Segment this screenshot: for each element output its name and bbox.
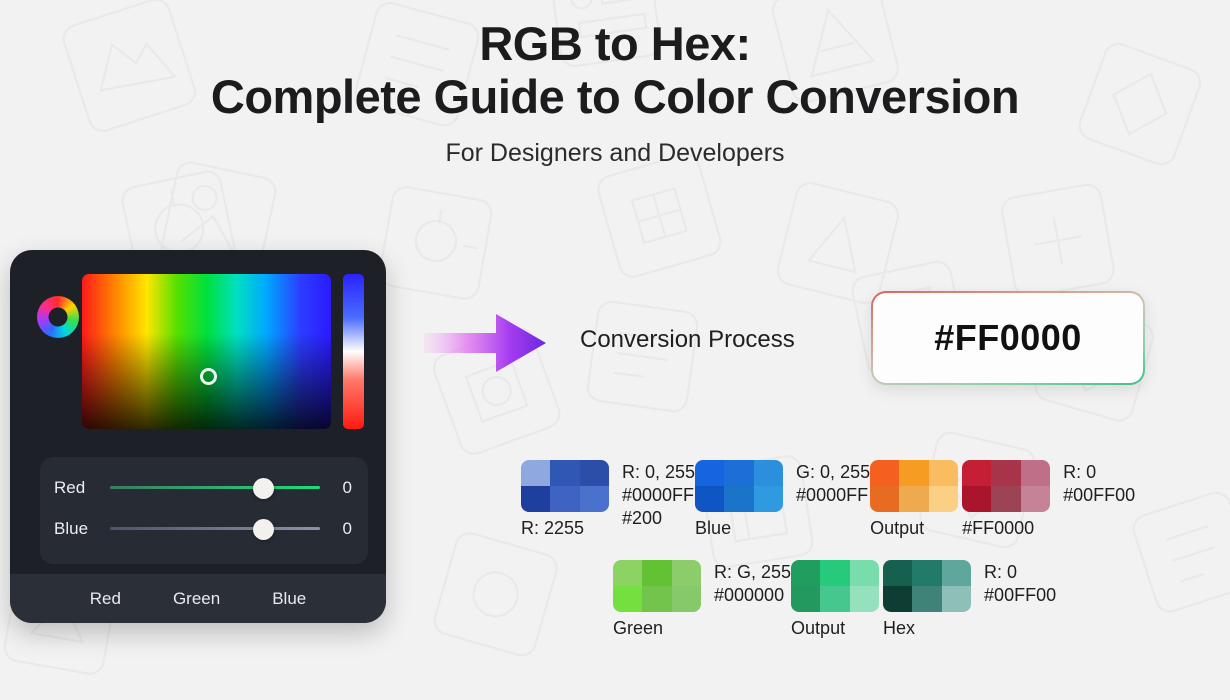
swatch-tile bbox=[899, 460, 928, 486]
swatch-meta2-1-4: #00FF00 bbox=[1063, 484, 1135, 507]
right-arrow-icon bbox=[424, 312, 546, 374]
swatch-tile bbox=[929, 486, 958, 512]
saturation-gradient-field[interactable] bbox=[82, 274, 331, 429]
slider-track-red[interactable] bbox=[110, 478, 320, 498]
swatch-tile bbox=[942, 586, 971, 612]
swatch-meta-1-1: R: 0, 255 #0000FF #200 bbox=[622, 460, 695, 530]
swatch-meta2-1-1: #0000FF bbox=[622, 484, 695, 507]
swatch-meta2-2-2: #000000 bbox=[714, 584, 791, 607]
swatch-tile bbox=[695, 460, 724, 486]
slider-value-red: 0 bbox=[326, 478, 352, 498]
hex-value-text: #FF0000 bbox=[934, 317, 1082, 359]
swatch-tile bbox=[912, 586, 941, 612]
swatch-tile bbox=[1021, 460, 1050, 486]
swatch-tile bbox=[870, 486, 899, 512]
hex-result-badge[interactable]: #FF0000 bbox=[871, 291, 1145, 385]
swatch-tile bbox=[724, 460, 753, 486]
red-swatch[interactable] bbox=[962, 460, 1050, 512]
swatch-meta2-2-4: #00FF00 bbox=[984, 584, 1056, 607]
channel-tabbar: Red Green Blue bbox=[10, 574, 386, 623]
swatch-tile bbox=[521, 486, 550, 512]
swatch-tile bbox=[883, 586, 912, 612]
swatch-tile bbox=[929, 460, 958, 486]
swatch-tile bbox=[642, 560, 671, 586]
swatch-tile bbox=[850, 586, 879, 612]
swatch-tile bbox=[991, 486, 1020, 512]
tab-blue[interactable]: Blue bbox=[272, 589, 306, 609]
swatch-cell-2-3[interactable]: Output bbox=[791, 560, 883, 660]
swatch-tile bbox=[550, 460, 579, 486]
tab-green[interactable]: Green bbox=[173, 589, 220, 609]
hue-slider-strip[interactable] bbox=[343, 274, 364, 429]
swatch-tile bbox=[695, 486, 724, 512]
swatch-meta1-1-2: G: 0, 255 bbox=[796, 462, 870, 482]
swatch-tile bbox=[899, 486, 928, 512]
swatch-tile bbox=[754, 486, 783, 512]
slider-value-blue: 0 bbox=[326, 519, 352, 539]
swatch-tile bbox=[672, 586, 701, 612]
swatch-meta2-1-2: #0000FF bbox=[796, 484, 870, 507]
swatch-caption-2-2: Green bbox=[613, 618, 705, 639]
teal-swatch[interactable] bbox=[883, 560, 971, 612]
swatch-tile bbox=[870, 460, 899, 486]
page-subtitle: For Designers and Developers bbox=[0, 139, 1230, 168]
swatch-grid: R: 2255 R: 0, 255 #0000FF #200 Blue G: 0… bbox=[521, 460, 1221, 660]
swatch-tile bbox=[754, 460, 783, 486]
swatch-caption-2-3: Output bbox=[791, 618, 883, 639]
swatch-meta1-2-2: R: G, 255 bbox=[714, 562, 791, 582]
rgb-sliders-card: Red 0 Blue 0 bbox=[40, 457, 368, 564]
slider-track-fill-red bbox=[110, 486, 320, 489]
swatch-tile bbox=[521, 460, 550, 486]
color-picker-panel[interactable]: Red 0 Blue 0 Red Green Blue bbox=[10, 250, 386, 623]
swatch-row-1: R: 2255 R: 0, 255 #0000FF #200 Blue G: 0… bbox=[521, 460, 1221, 560]
slider-row-red[interactable]: Red 0 bbox=[40, 467, 368, 508]
swatch-tile bbox=[820, 586, 849, 612]
swatch-row-2: Green R: G, 255 #000000 Output Hex R: 0 … bbox=[521, 560, 1221, 660]
page-header: RGB to Hex: Complete Guide to Color Conv… bbox=[0, 18, 1230, 168]
hex-badge-inner: #FF0000 bbox=[873, 293, 1143, 383]
page-title-line-1: RGB to Hex: bbox=[0, 18, 1230, 71]
swatch-caption-2-4: Hex bbox=[883, 618, 975, 639]
slider-track-fill-blue bbox=[110, 527, 320, 530]
swatch-cell-1-3[interactable]: Output bbox=[870, 460, 962, 560]
slider-track-blue[interactable] bbox=[110, 519, 320, 539]
blue-muted-swatch[interactable] bbox=[521, 460, 609, 512]
conversion-process-label: Conversion Process bbox=[580, 326, 795, 354]
slider-label-red: Red bbox=[54, 478, 110, 498]
page-title-line-2: Complete Guide to Color Conversion bbox=[0, 71, 1230, 124]
swatch-tile bbox=[991, 460, 1020, 486]
swatch-tile bbox=[613, 586, 642, 612]
swatch-meta1-1-4: R: 0 bbox=[1063, 462, 1096, 482]
swatch-cell-1-1[interactable]: R: 2255 R: 0, 255 #0000FF #200 bbox=[521, 460, 695, 560]
swatch-caption-1-3: Output bbox=[870, 518, 962, 539]
blue-bright-swatch[interactable] bbox=[695, 460, 783, 512]
swatch-tile bbox=[912, 560, 941, 586]
slider-knob-blue[interactable] bbox=[253, 519, 274, 540]
slider-row-blue[interactable]: Blue 0 bbox=[40, 508, 368, 549]
swatch-cell-2-4[interactable]: Hex R: 0 #00FF00 bbox=[883, 560, 1056, 660]
orange-swatch[interactable] bbox=[870, 460, 958, 512]
swatch-caption-1-4: #FF0000 bbox=[962, 518, 1054, 539]
swatch-tile bbox=[883, 560, 912, 586]
swatch-cell-2-2[interactable]: Green R: G, 255 #000000 bbox=[613, 560, 791, 660]
swatch-tile bbox=[942, 560, 971, 586]
swatch-caption-1-2: Blue bbox=[695, 518, 787, 539]
green-emerald-swatch[interactable] bbox=[791, 560, 879, 612]
green-light-swatch[interactable] bbox=[613, 560, 701, 612]
swatch-caption-1-1: R: 2255 bbox=[521, 518, 613, 539]
swatch-tile bbox=[791, 560, 820, 586]
tab-red[interactable]: Red bbox=[90, 589, 121, 609]
swatch-meta-2-4: R: 0 #00FF00 bbox=[984, 560, 1056, 607]
swatch-meta-1-2: G: 0, 255 #0000FF bbox=[796, 460, 870, 507]
swatch-tile bbox=[550, 486, 579, 512]
swatch-meta-1-4: R: 0 #00FF00 bbox=[1063, 460, 1135, 507]
swatch-tile bbox=[724, 486, 753, 512]
swatch-extra-1-1: #200 bbox=[622, 507, 695, 530]
swatch-tile bbox=[672, 560, 701, 586]
swatch-meta-2-2: R: G, 255 #000000 bbox=[714, 560, 791, 607]
swatch-tile bbox=[580, 486, 609, 512]
swatch-tile bbox=[962, 460, 991, 486]
swatch-meta1-1-1: R: 0, 255 bbox=[622, 462, 695, 482]
swatch-meta1-2-4: R: 0 bbox=[984, 562, 1017, 582]
slider-knob-red[interactable] bbox=[253, 478, 274, 499]
swatch-cell-1-4[interactable]: #FF0000 R: 0 #00FF00 bbox=[962, 460, 1135, 560]
swatch-tile bbox=[613, 560, 642, 586]
swatch-tile bbox=[580, 460, 609, 486]
color-wheel-icon[interactable] bbox=[37, 296, 79, 338]
slider-label-blue: Blue bbox=[54, 519, 110, 539]
color-selector-handle[interactable] bbox=[200, 368, 217, 385]
swatch-tile bbox=[642, 586, 671, 612]
swatch-tile bbox=[820, 560, 849, 586]
swatch-tile bbox=[1021, 486, 1050, 512]
swatch-tile bbox=[962, 486, 991, 512]
picker-gradient-area bbox=[10, 250, 386, 445]
swatch-cell-1-2[interactable]: Blue G: 0, 255 #0000FF bbox=[695, 460, 870, 560]
swatch-tile bbox=[850, 560, 879, 586]
swatch-tile bbox=[791, 586, 820, 612]
